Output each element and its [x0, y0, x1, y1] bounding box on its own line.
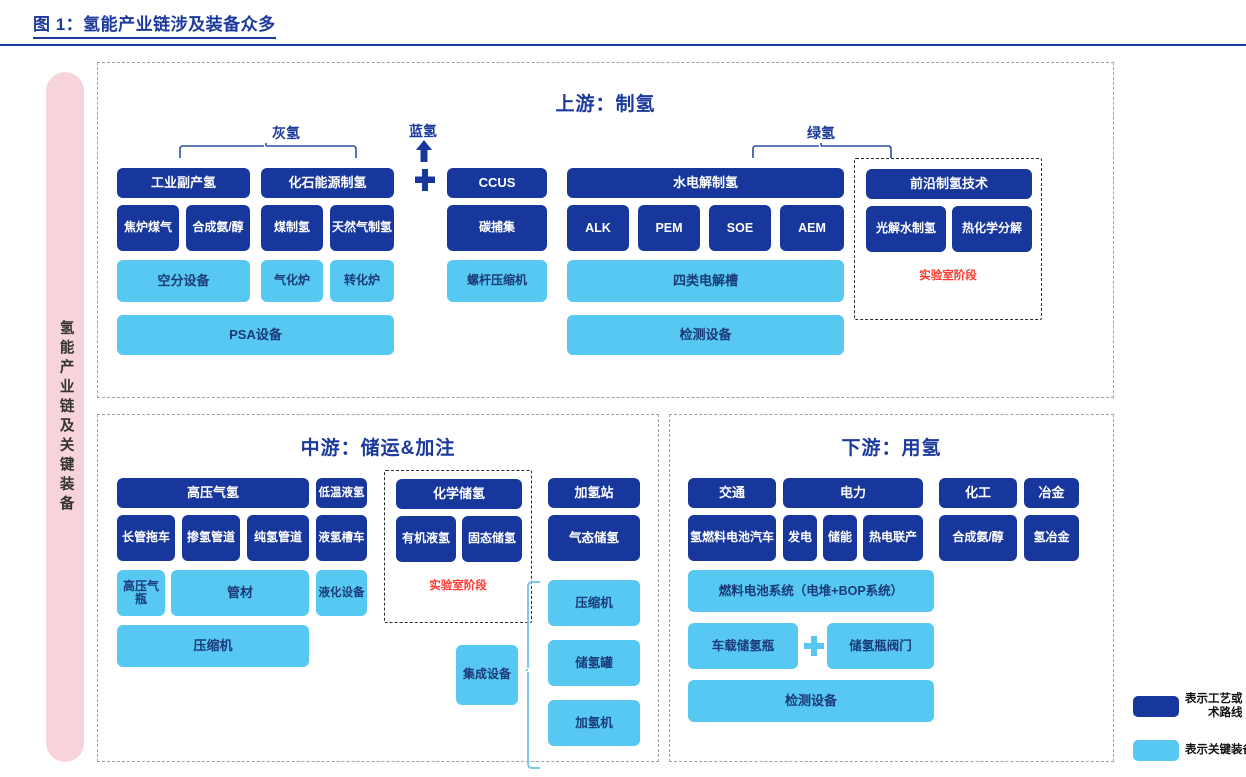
box-carbon-capture[interactable]: 碳捕集 — [447, 205, 547, 251]
box-solid-storage[interactable]: 固态储氢 — [462, 516, 522, 562]
plus-icon-downstream — [803, 634, 825, 663]
box-high-pressure-gas[interactable]: 高压气氢 — [117, 478, 309, 508]
midstream-panel: 中游：储运&加注 高压气氢 低温液氢 加氢站 长管拖车 掺氢管道 纯氢管道 液氢… — [97, 414, 659, 762]
box-natural-gas[interactable]: 天然气制氢 — [330, 205, 394, 251]
box-blended-pipeline[interactable]: 掺氢管道 — [182, 515, 240, 561]
box-cryogenic-liquid[interactable]: 低温液氢 — [316, 478, 367, 508]
box-industrial-byproduct[interactable]: 工业副产氢 — [117, 168, 250, 198]
box-screw-compressor[interactable]: 螺杆压缩机 — [447, 260, 547, 302]
upstream-panel: 上游：制氢 灰氢 蓝氢 绿氢 工业副产氢 化石能源制氢 CCUS 水电解制氢 焦… — [97, 62, 1114, 398]
green-hydrogen-bracket — [751, 143, 893, 159]
box-power[interactable]: 电力 — [783, 478, 923, 508]
box-pure-pipeline[interactable]: 纯氢管道 — [247, 515, 309, 561]
gray-hydrogen-bracket — [178, 143, 358, 159]
frontier-tech-group: 前沿制氢技术 光解水制氢 热化学分解 实验室阶段 — [854, 158, 1042, 320]
legend-swatch-dark — [1133, 696, 1179, 717]
box-hydrogen-tank[interactable]: 储氢罐 — [548, 640, 640, 686]
box-thermochemical[interactable]: 热化学分解 — [952, 206, 1032, 252]
box-organic-liquid[interactable]: 有机液氢 — [396, 516, 456, 562]
downstream-panel: 下游：用氢 交通 电力 化工 冶金 氢燃料电池汽车 发电 储能 热电联产 合成氨… — [669, 414, 1114, 762]
box-compressor-main[interactable]: 压缩机 — [117, 625, 309, 667]
box-aem[interactable]: AEM — [780, 205, 844, 251]
box-gasifier[interactable]: 气化炉 — [261, 260, 323, 302]
spine-label: 氢能产业链及关键装备 — [57, 320, 72, 515]
box-alk[interactable]: ALK — [567, 205, 629, 251]
box-fossil-energy[interactable]: 化石能源制氢 — [261, 168, 394, 198]
box-water-electrolysis[interactable]: 水电解制氢 — [567, 168, 844, 198]
box-cylinder-valve[interactable]: 储氢瓶阀门 — [827, 623, 934, 669]
box-photolysis[interactable]: 光解水制氢 — [866, 206, 946, 252]
box-refueling-station[interactable]: 加氢站 — [548, 478, 640, 508]
box-liquid-tanker[interactable]: 液氢槽车 — [316, 515, 367, 561]
box-energy-storage[interactable]: 储能 — [823, 515, 857, 561]
box-pem[interactable]: PEM — [638, 205, 700, 251]
page-title: 图 1：氢能产业链涉及装备众多 — [33, 10, 276, 39]
box-synthetic-ammonia-down[interactable]: 合成氨/醇 — [939, 515, 1017, 561]
integrated-equipment-brace — [526, 580, 542, 775]
box-pipe-material[interactable]: 管材 — [171, 570, 309, 616]
box-reformer[interactable]: 转化炉 — [330, 260, 394, 302]
downstream-title: 下游：用氢 — [670, 433, 1113, 460]
legend-label-equipment: 表示关键装备 — [1185, 743, 1246, 757]
lab-stage-midstream: 实验室阶段 — [385, 577, 531, 593]
box-fcev[interactable]: 氢燃料电池汽车 — [688, 515, 776, 561]
box-fuel-cell-system[interactable]: 燃料电池系统（电堆+BOP系统） — [688, 570, 934, 612]
gray-hydrogen-label: 灰氢 — [246, 123, 326, 143]
legend-label-process-line2: 术路线 — [1208, 707, 1243, 719]
legend: 表示工艺或 术路线 表示关键装备 — [1133, 692, 1246, 770]
box-air-separation[interactable]: 空分设备 — [117, 260, 250, 302]
box-high-pressure-cylinder[interactable]: 高压气瓶 — [117, 570, 165, 616]
box-metallurgy[interactable]: 冶金 — [1024, 478, 1079, 508]
box-testing-equipment-upstream[interactable]: 检测设备 — [567, 315, 844, 355]
box-synthetic-ammonia[interactable]: 合成氨/醇 — [186, 205, 250, 251]
box-onboard-cylinder[interactable]: 车载储氢瓶 — [688, 623, 798, 669]
box-four-electrolyzers[interactable]: 四类电解槽 — [567, 260, 844, 302]
legend-swatch-light — [1133, 740, 1179, 761]
box-frontier-tech[interactable]: 前沿制氢技术 — [866, 169, 1032, 199]
box-chemical[interactable]: 化工 — [939, 478, 1017, 508]
box-testing-equipment-downstream[interactable]: 检测设备 — [688, 680, 934, 722]
box-coal-to-hydrogen[interactable]: 煤制氢 — [261, 205, 323, 251]
green-hydrogen-label: 绿氢 — [786, 123, 856, 143]
box-liquefaction[interactable]: 液化设备 — [316, 570, 367, 616]
box-psa-equipment[interactable]: PSA设备 — [117, 315, 394, 355]
title-bar: 图 1：氢能产业链涉及装备众多 — [0, 0, 1246, 46]
blue-hydrogen-label: 蓝氢 — [393, 121, 453, 141]
box-coke-oven-gas[interactable]: 焦炉煤气 — [117, 205, 179, 251]
box-chemical-storage[interactable]: 化学储氢 — [396, 479, 522, 509]
box-gaseous-storage[interactable]: 气态储氢 — [548, 515, 640, 561]
upstream-title: 上游：制氢 — [98, 89, 1113, 116]
box-hydrogen-metallurgy[interactable]: 氢冶金 — [1024, 515, 1079, 561]
box-chp[interactable]: 热电联产 — [863, 515, 923, 561]
box-power-generation[interactable]: 发电 — [783, 515, 817, 561]
legend-label-process-line1: 表示工艺或 — [1185, 693, 1243, 705]
box-integrated-equipment[interactable]: 集成设备 — [456, 645, 518, 705]
midstream-title: 中游：储运&加注 — [98, 433, 658, 460]
box-tube-trailer[interactable]: 长管拖车 — [117, 515, 175, 561]
box-soe[interactable]: SOE — [709, 205, 771, 251]
legend-row-process: 表示工艺或 术路线 — [1133, 692, 1243, 721]
box-compressor-station[interactable]: 压缩机 — [548, 580, 640, 626]
blue-hydrogen-arrow-icon — [414, 139, 434, 168]
box-dispenser[interactable]: 加氢机 — [548, 700, 640, 746]
legend-label-process: 表示工艺或 术路线 — [1185, 692, 1243, 721]
legend-row-equipment: 表示关键装备 — [1133, 740, 1246, 761]
box-transport[interactable]: 交通 — [688, 478, 776, 508]
box-ccus[interactable]: CCUS — [447, 168, 547, 198]
title-divider — [0, 44, 1246, 46]
industry-chain-spine: 氢能产业链及关键装备 — [46, 72, 84, 762]
chemical-storage-group: 化学储氢 有机液氢 固态储氢 实验室阶段 — [384, 470, 532, 623]
lab-stage-upstream: 实验室阶段 — [855, 267, 1041, 283]
plus-icon-ccus — [413, 167, 437, 198]
